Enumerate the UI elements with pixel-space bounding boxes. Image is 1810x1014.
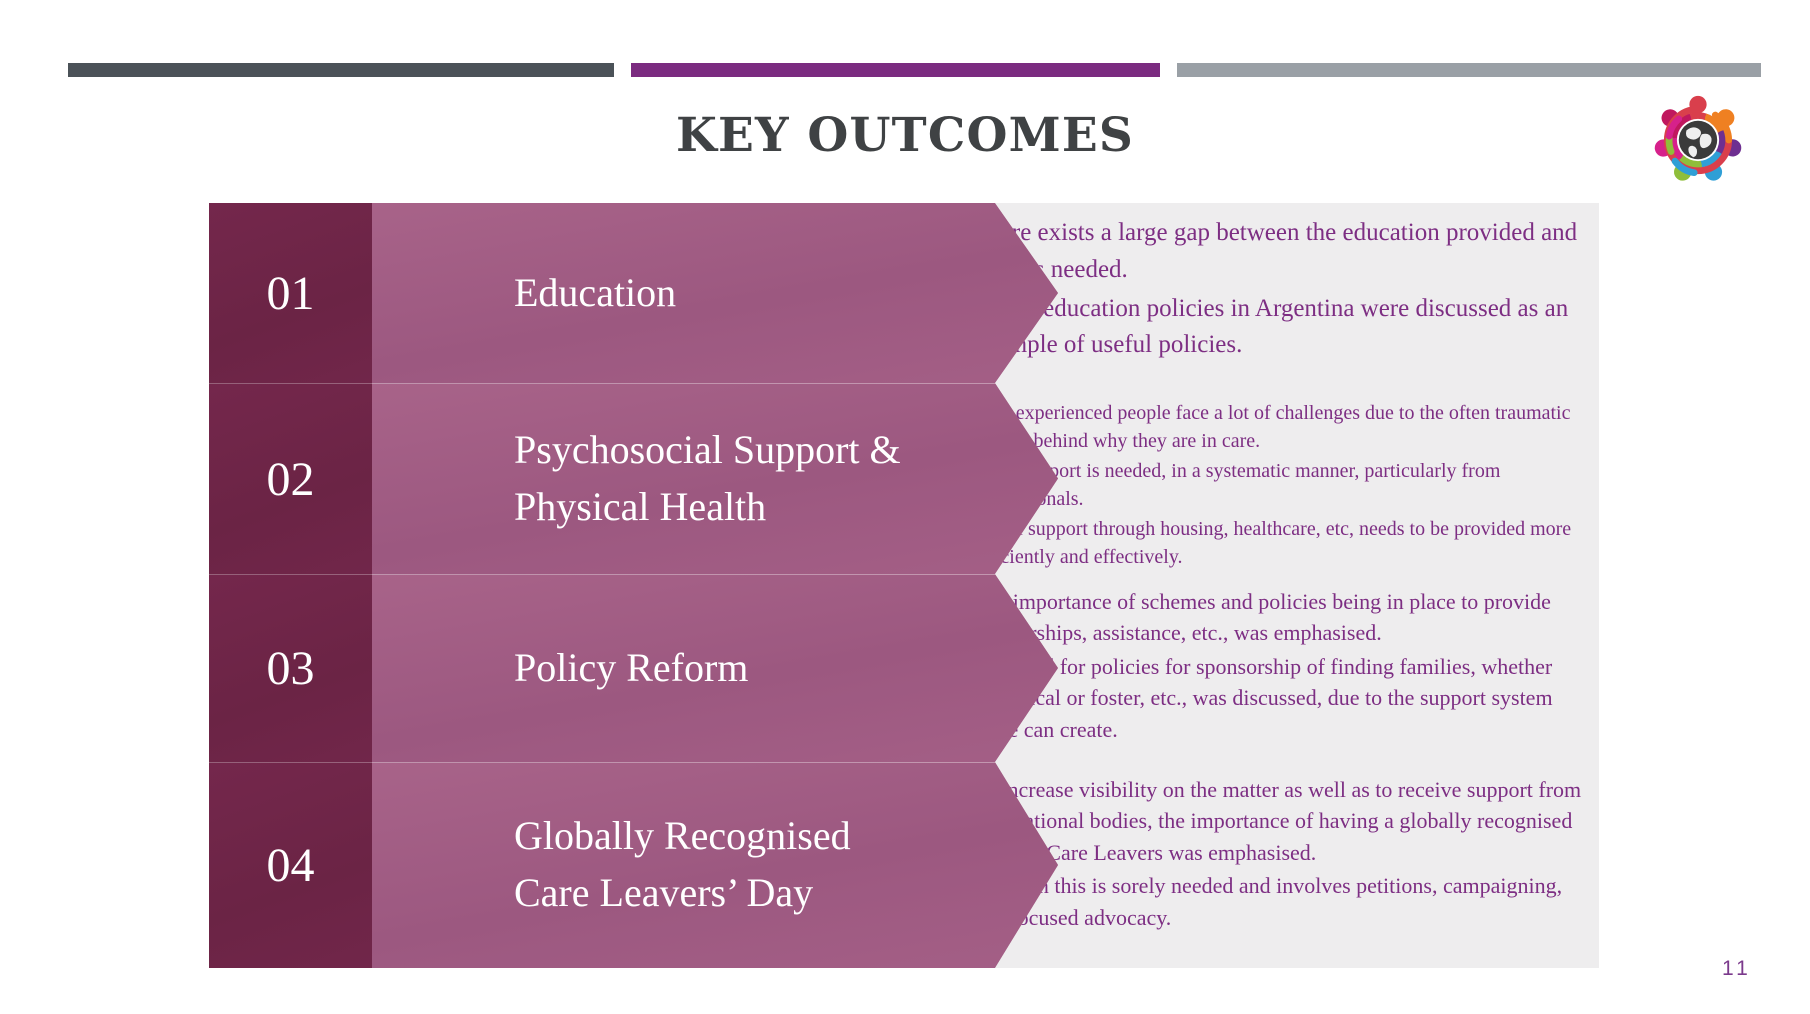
outcome-number: 02 [209,383,372,574]
outcome-rows: 01EducationThere exists a large gap betw… [209,203,1599,968]
outcome-number: 04 [209,762,372,968]
page-title: KEY OUTCOMES [0,108,1810,163]
header-rule-dark [68,63,614,77]
content-panel: 01EducationThere exists a large gap betw… [209,203,1599,968]
globe-people-logo-icon [1648,92,1748,188]
outcome-number: 03 [209,574,372,762]
outcome-row[interactable]: 04Globally Recognised Care Leavers’ DayT… [209,762,1599,968]
outcome-row[interactable]: 02Psychosocial Support & Physical Health… [209,383,1599,574]
outcome-number: 01 [209,203,372,383]
slide: KEY OUTCOMES [0,0,1810,1014]
chevron-shape [372,203,1058,383]
outcome-row[interactable]: 03Policy ReformThe importance of schemes… [209,574,1599,762]
header-rule-purple [631,63,1160,77]
page-number: 11 [1722,957,1752,981]
chevron-shape [372,383,1058,574]
header-rule-gray [1177,63,1761,77]
outcome-row[interactable]: 01EducationThere exists a large gap betw… [209,203,1599,383]
chevron-shape [372,574,1058,762]
chevron-shape [372,762,1058,968]
